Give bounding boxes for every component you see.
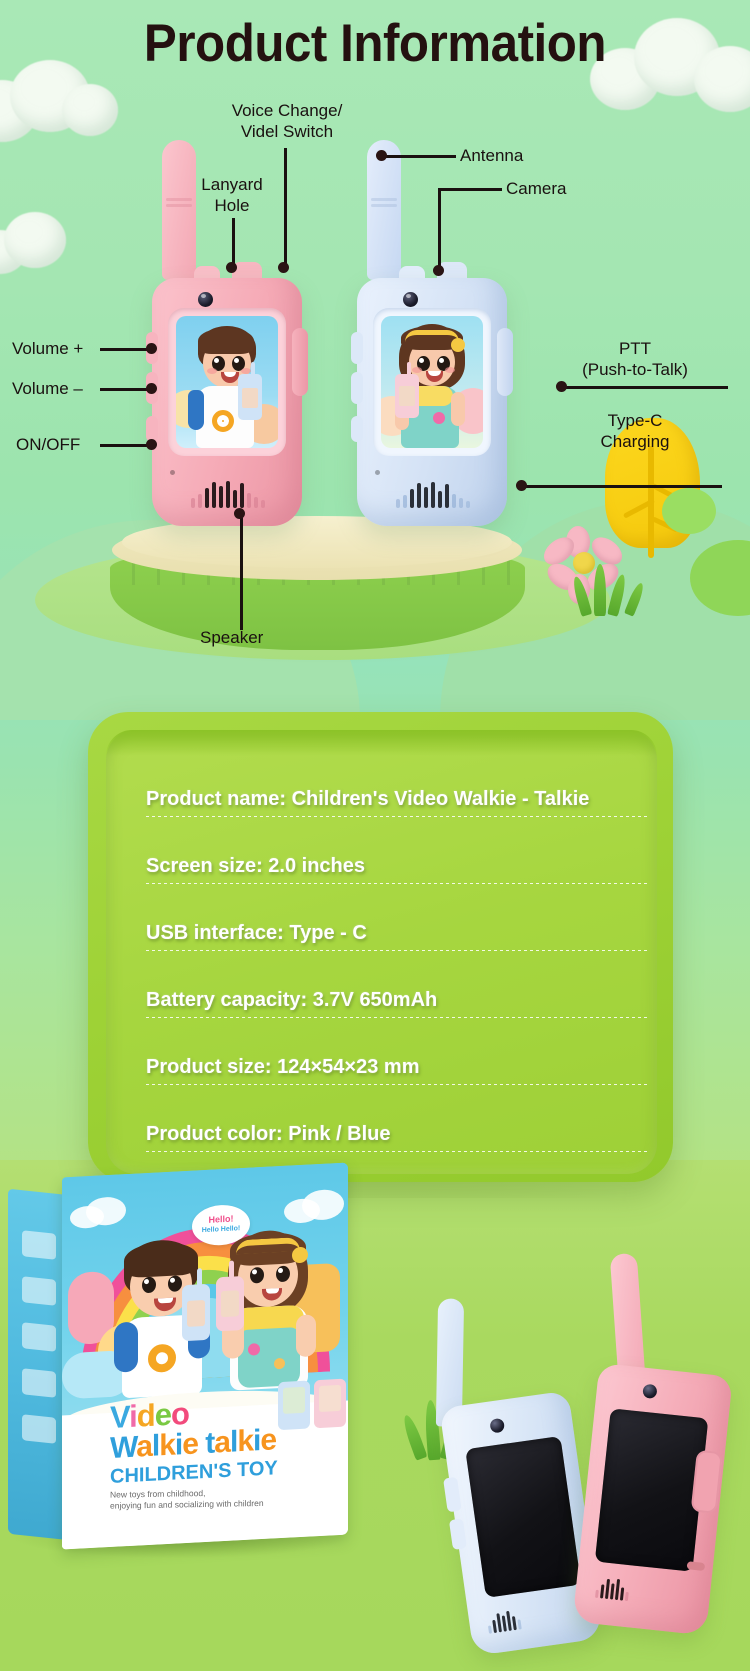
leader-dot-lanyard-hole bbox=[226, 262, 237, 273]
callout-lanyard-hole: Lanyard Hole bbox=[182, 174, 282, 216]
callout-camera: Camera bbox=[506, 178, 566, 199]
blue-angled-grille bbox=[485, 1603, 521, 1633]
spec-row: USB interface: Type - C bbox=[146, 914, 647, 981]
leader-camera-horizontal bbox=[438, 188, 502, 191]
box-girl-character bbox=[220, 1228, 320, 1399]
spec-tray: Product name: Children's Video Walkie - … bbox=[88, 712, 673, 1182]
spec-usb-interface: USB interface: Type - C bbox=[146, 920, 367, 946]
box-thumb-blue bbox=[278, 1380, 310, 1430]
leader-dot-antenna bbox=[376, 150, 387, 161]
leader-type-c bbox=[522, 485, 722, 488]
leader-dot-volume-up bbox=[146, 343, 157, 354]
callout-ptt: PTT (Push-to-Talk) bbox=[545, 338, 725, 380]
leader-camera-vertical bbox=[438, 188, 441, 272]
grass-right bbox=[572, 560, 662, 614]
box-front-panel: Hello! Hello Hello! bbox=[62, 1163, 348, 1550]
pink-camera bbox=[198, 292, 213, 307]
leader-dot-on-off bbox=[146, 439, 157, 450]
leader-speaker bbox=[240, 512, 243, 630]
callout-volume-up: Volume + bbox=[12, 338, 83, 359]
girl-headband bbox=[405, 330, 459, 342]
page-title: Product Information bbox=[26, 14, 724, 74]
box-side-panel bbox=[8, 1189, 70, 1541]
pink-angled-screen bbox=[595, 1408, 709, 1571]
blue-antenna bbox=[367, 140, 401, 280]
cloud-far-left bbox=[0, 212, 70, 274]
spec-tray-lip bbox=[106, 730, 657, 756]
spec-rule bbox=[146, 950, 647, 951]
blue-on-off-button bbox=[351, 416, 363, 442]
callout-voice-change-videl-switch: Voice Change/ Videl Switch bbox=[222, 100, 352, 142]
callout-type-c-charging: Type-C Charging bbox=[560, 410, 710, 452]
leader-dot-volume-down bbox=[146, 383, 157, 394]
retail-package-box: Hello! Hello Hello! bbox=[8, 1170, 348, 1580]
bush-far-right bbox=[662, 488, 716, 534]
leader-antenna bbox=[382, 155, 456, 158]
callout-volume-down: Volume – bbox=[12, 378, 83, 399]
pink-screen bbox=[176, 316, 278, 448]
spec-product-size: Product size: 124×54×23 mm bbox=[146, 1054, 419, 1080]
leader-dot-camera bbox=[433, 265, 444, 276]
callout-speaker: Speaker bbox=[200, 627, 263, 648]
product-information-infographic: Product Information bbox=[0, 0, 750, 1671]
box-tagline: New toys from childhood, enjoying fun an… bbox=[110, 1486, 300, 1511]
spec-rule bbox=[146, 1151, 647, 1152]
spec-row: Screen size: 2.0 inches bbox=[146, 847, 647, 914]
leader-ptt bbox=[560, 386, 728, 389]
blue-ptt-button bbox=[497, 328, 513, 396]
spec-rule bbox=[146, 816, 647, 817]
leader-dot-ptt bbox=[556, 381, 567, 392]
spec-list: Product name: Children's Video Walkie - … bbox=[146, 780, 647, 1182]
leader-lanyard-hole bbox=[232, 218, 235, 268]
blue-speaker-grille bbox=[381, 474, 485, 508]
spec-rule bbox=[146, 1017, 647, 1018]
callout-on-off: ON/OFF bbox=[16, 434, 80, 455]
box-girl-walkie-talkie bbox=[216, 1276, 244, 1331]
blue-volume-down-button bbox=[351, 372, 363, 404]
spec-battery-capacity: Battery capacity: 3.7V 650mAh bbox=[146, 987, 437, 1013]
blue-screen bbox=[381, 316, 483, 448]
spec-screen-size: Screen size: 2.0 inches bbox=[146, 853, 365, 879]
callout-antenna: Antenna bbox=[460, 145, 523, 166]
pink-angled-grille bbox=[595, 1572, 631, 1601]
leader-voice-change bbox=[284, 148, 287, 268]
spec-row: Battery capacity: 3.7V 650mAh bbox=[146, 981, 647, 1048]
girl-flower-clip bbox=[451, 338, 465, 352]
blue-volume-up-button bbox=[351, 332, 363, 364]
pink-speaker-grille bbox=[176, 474, 280, 508]
boy-mini-walkie-talkie bbox=[238, 374, 262, 420]
blue-camera bbox=[403, 292, 418, 307]
leader-dot-speaker bbox=[234, 508, 245, 519]
leader-dot-type-c bbox=[516, 480, 527, 491]
box-boy-walkie-talkie bbox=[182, 1284, 210, 1341]
box-boy-character bbox=[114, 1238, 212, 1403]
blue-angled-screen bbox=[465, 1436, 581, 1598]
pink-ptt-button bbox=[292, 328, 308, 396]
spec-rule bbox=[146, 1084, 647, 1085]
girl-mini-walkie-talkie bbox=[395, 374, 419, 418]
spec-product-name: Product name: Children's Video Walkie - … bbox=[146, 786, 589, 812]
leader-dot-voice-change bbox=[278, 262, 289, 273]
spec-row: Product size: 124×54×23 mm bbox=[146, 1048, 647, 1115]
pink-angled-charge-port bbox=[687, 1561, 706, 1571]
spec-row: Product name: Children's Video Walkie - … bbox=[146, 780, 647, 847]
spec-product-color: Product color: Pink / Blue bbox=[146, 1121, 390, 1147]
box-thumb-pink bbox=[314, 1379, 346, 1429]
spec-rule bbox=[146, 883, 647, 884]
